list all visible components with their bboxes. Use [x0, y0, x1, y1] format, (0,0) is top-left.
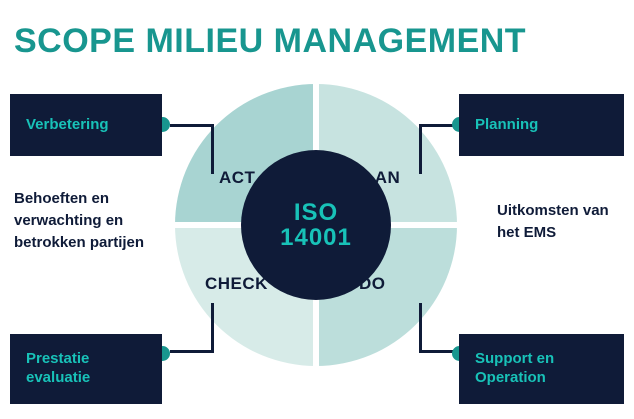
hub-standard-number: 14001	[280, 225, 352, 250]
center-hub: ISO 14001	[241, 150, 391, 300]
callout-prestatie-line1: Prestatie	[26, 350, 90, 369]
callout-support-line1: Support en	[475, 350, 554, 369]
page-title: SCOPE MILIEU MANAGEMENT	[14, 22, 526, 61]
annotation-inputs: Behoeften en verwachting en betrokken pa…	[14, 188, 159, 253]
quadrant-label-check: CHECK	[205, 274, 268, 294]
callout-support-operation[interactable]: Support en Operation	[459, 334, 624, 404]
callout-planning[interactable]: Planning	[459, 94, 624, 156]
callout-prestatie-evaluatie[interactable]: Prestatie evaluatie	[10, 334, 162, 404]
annotation-outputs: Uitkomsten van het EMS	[497, 200, 627, 244]
pdca-wheel: ACT PLAN CHECK DO ISO 14001	[175, 84, 457, 366]
callout-support-line2: Operation	[475, 369, 554, 388]
connector-verbetering-vertical	[211, 124, 214, 174]
callout-prestatie-line2: evaluatie	[26, 369, 90, 388]
connector-planning-vertical	[419, 124, 422, 174]
connector-support-vertical	[419, 303, 422, 353]
connector-prestatie-horizontal	[170, 350, 214, 353]
connector-prestatie-vertical	[211, 303, 214, 353]
quadrant-label-act: ACT	[219, 168, 255, 188]
diagram-canvas: SCOPE MILIEU MANAGEMENT ACT PLAN CHECK D…	[0, 0, 634, 419]
hub-standard-name: ISO	[294, 200, 338, 225]
callout-verbetering-label: Verbetering	[26, 116, 109, 135]
callout-verbetering[interactable]: Verbetering	[10, 94, 162, 156]
connector-verbetering-horizontal	[170, 124, 214, 127]
callout-planning-label: Planning	[475, 116, 538, 135]
